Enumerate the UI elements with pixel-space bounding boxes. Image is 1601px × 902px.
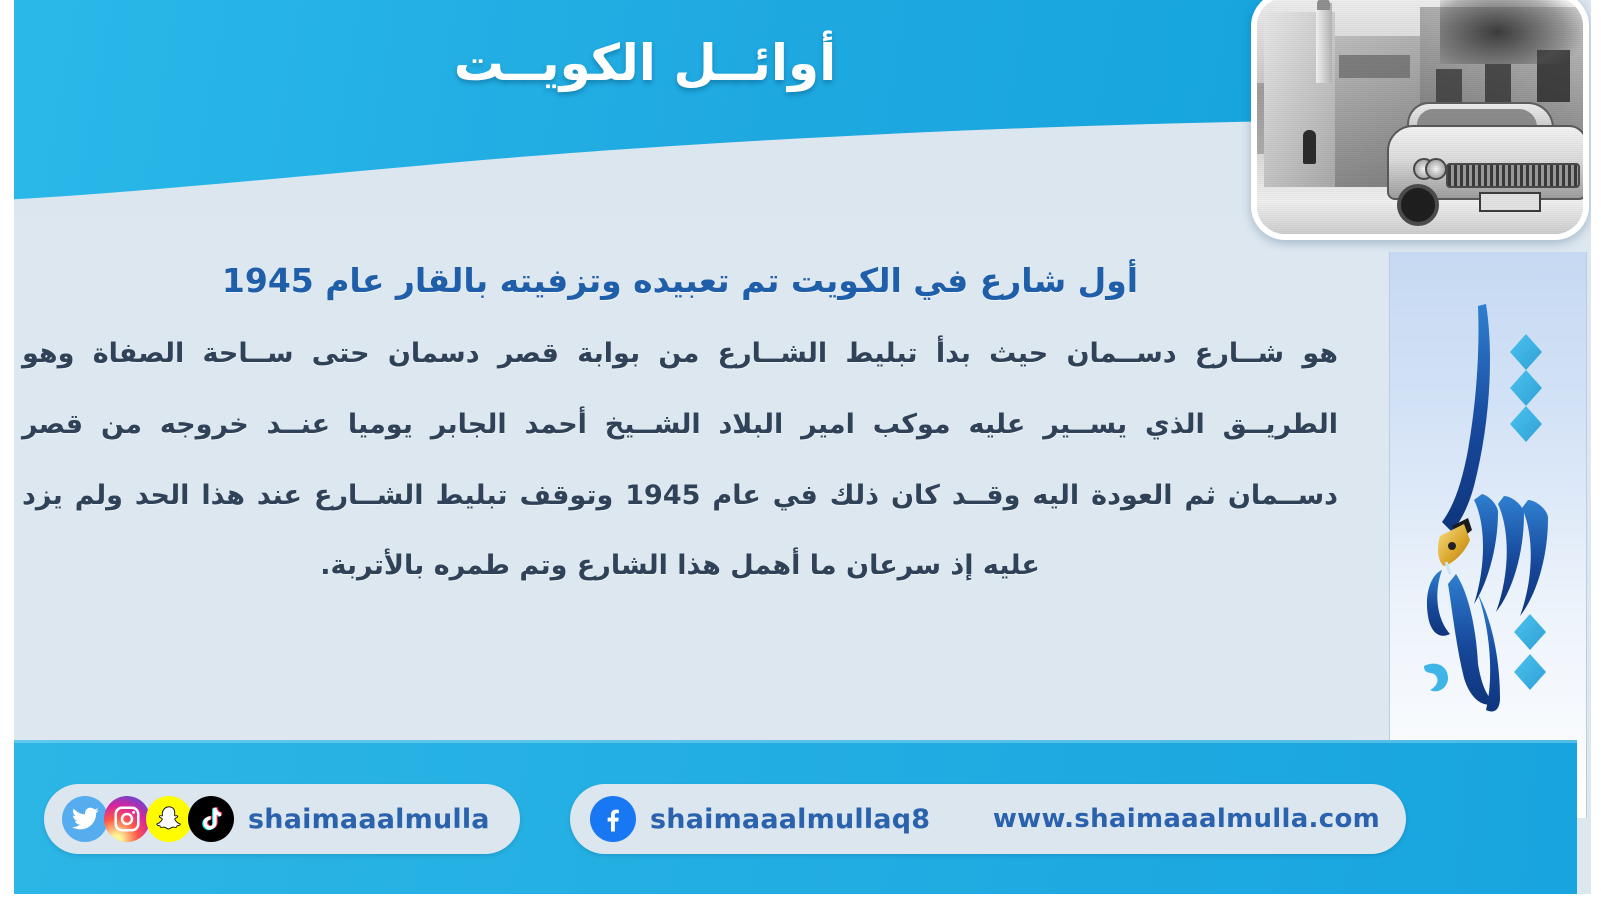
article-paragraph: هو شــارع دســمان حيث بدأ تبليط الشــارع…	[22, 319, 1338, 602]
footer-bar: shaimaaalmulla shaimaaalmullaq8 www.shai…	[0, 740, 1577, 902]
social-handles-group-2: shaimaaalmullaq8 www.shaimaaalmulla.com	[570, 784, 1406, 854]
calligraphy-pen-logo-icon	[1390, 274, 1586, 734]
social-handle-label: shaimaaalmulla	[248, 804, 490, 835]
tiktok-icon[interactable]	[188, 796, 234, 842]
instagram-icon[interactable]	[104, 796, 150, 842]
twitter-icon[interactable]	[62, 796, 108, 842]
page-title: أوائــل الكويــت	[0, 34, 1290, 92]
frame-edge-right	[1591, 0, 1601, 902]
article-headline: أول شارع في الكويت تم تعبيده وتزفيته بال…	[60, 260, 1300, 301]
article-content: أول شارع في الكويت تم تعبيده وتزفيته بال…	[0, 232, 1360, 602]
historic-photo-card	[1251, 0, 1589, 240]
website-url-label[interactable]: www.shaimaaalmulla.com	[993, 804, 1380, 834]
poster-root: أوائــل الكويــت	[0, 0, 1601, 902]
snapchat-icon[interactable]	[146, 796, 192, 842]
frame-edge-bottom	[0, 894, 1601, 902]
footer-top-divider	[0, 740, 1577, 743]
frame-edge-left	[0, 0, 14, 902]
social-handles-group-1: shaimaaalmulla	[44, 784, 520, 854]
historic-photo-image	[1257, 0, 1583, 234]
brand-logo-panel: شيماء الملا	[1389, 252, 1587, 818]
facebook-icon[interactable]	[590, 796, 636, 842]
photo-film-grain	[1257, 0, 1583, 234]
facebook-handle-label: shaimaaalmullaq8	[650, 804, 930, 835]
article-body: هو شــارع دســمان حيث بدأ تبليط الشــارع…	[22, 319, 1338, 602]
